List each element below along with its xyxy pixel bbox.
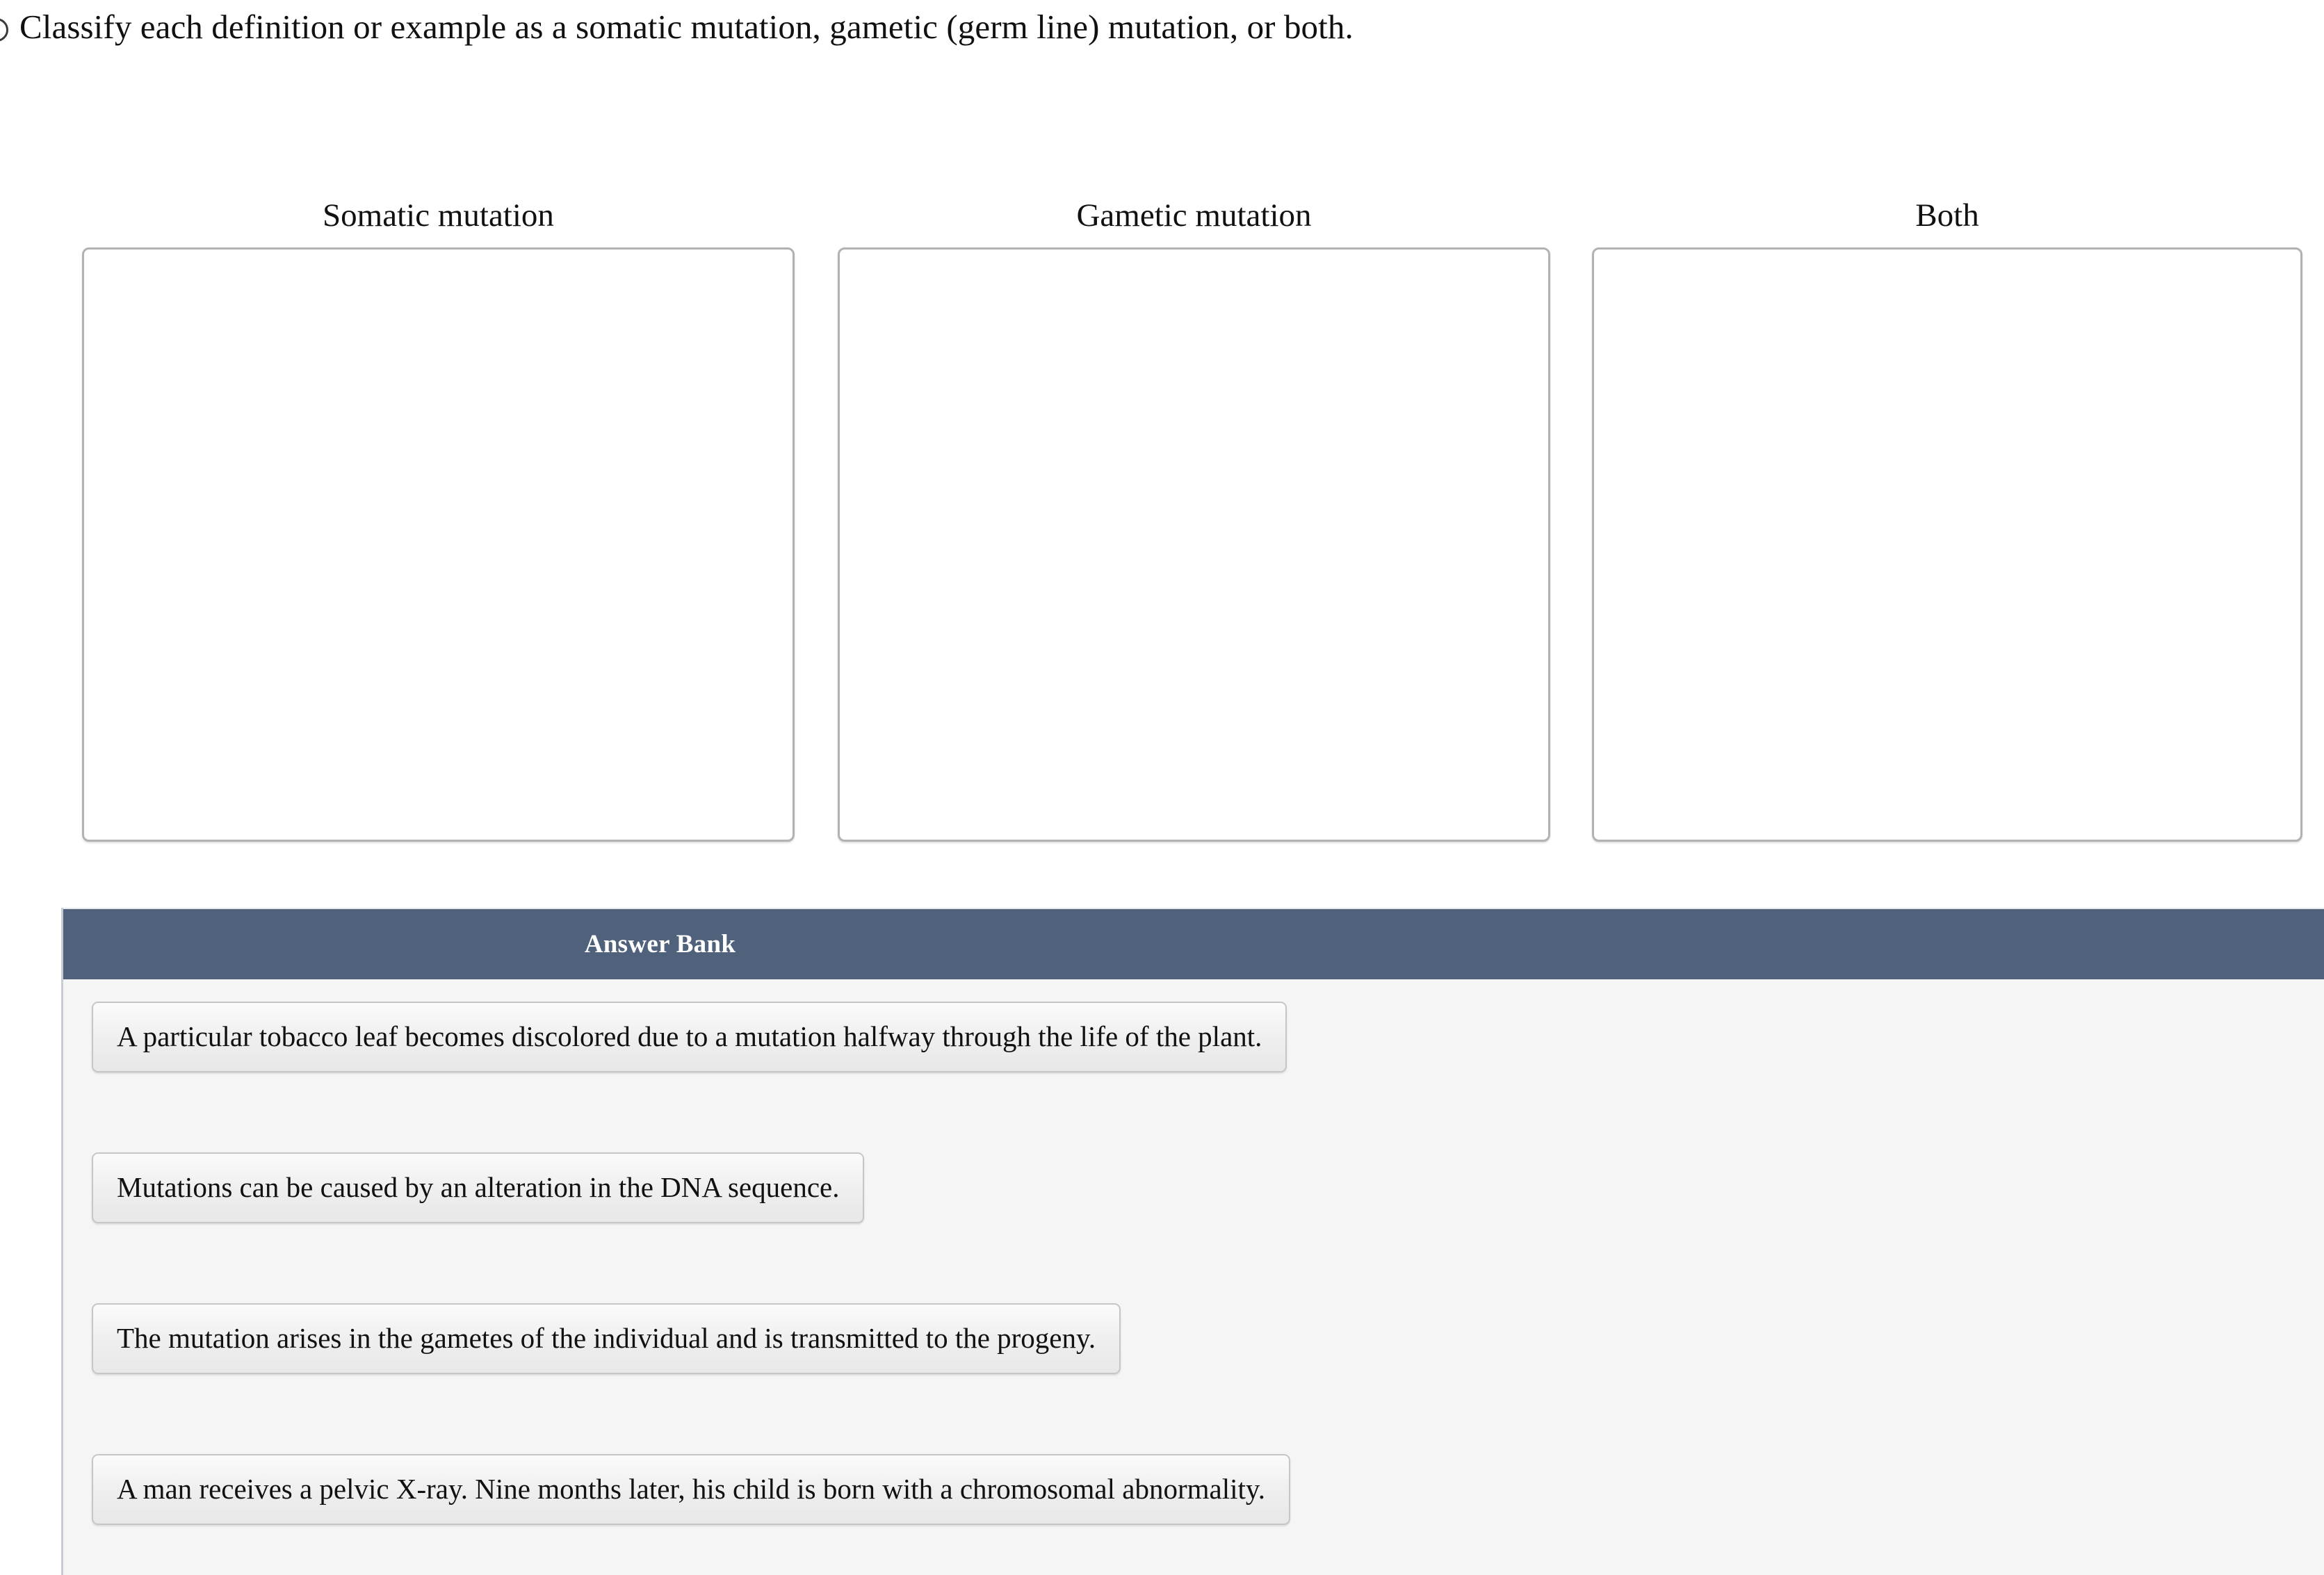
answer-bank-title: Answer Bank (585, 930, 736, 959)
answer-chip-gametes-progeny[interactable]: The mutation arises in the gametes of th… (92, 1303, 1121, 1374)
category-label-both: Both (1592, 195, 2302, 247)
answer-bank-body: A particular tobacco leaf becomes discol… (63, 979, 2324, 1575)
answer-bank-header: Answer Bank (63, 908, 2324, 979)
category-column-both: Both (1592, 195, 2302, 842)
category-column-somatic-mutation: Somatic mutation (82, 195, 795, 842)
page-title: Classify each definition or example as a… (19, 6, 1354, 49)
dropzone-somatic-mutation[interactable] (82, 247, 795, 842)
dropzone-gametic-mutation[interactable] (838, 247, 1550, 842)
list-item: Mutations can be caused by an alteration… (63, 1152, 864, 1223)
category-column-gametic-mutation: Gametic mutation (838, 195, 1550, 842)
answer-chip-dna-sequence-alteration[interactable]: Mutations can be caused by an alteration… (92, 1152, 864, 1223)
category-label-gametic-mutation: Gametic mutation (838, 195, 1550, 247)
category-label-somatic-mutation: Somatic mutation (82, 195, 795, 247)
list-item: The mutation arises in the gametes of th… (63, 1303, 1121, 1374)
answer-chip-pelvic-xray[interactable]: A man receives a pelvic X-ray. Nine mont… (92, 1454, 1290, 1525)
question-prompt-row: Classify each definition or example as a… (0, 0, 2324, 64)
answer-bank-panel: Answer Bank A particular tobacco leaf be… (61, 908, 2324, 1575)
circle-bullet-icon (0, 18, 8, 42)
list-item: A man receives a pelvic X-ray. Nine mont… (63, 1454, 1290, 1525)
list-item: A particular tobacco leaf becomes discol… (63, 1002, 1287, 1072)
dropzone-both[interactable] (1592, 247, 2302, 842)
answer-chip-tobacco-leaf[interactable]: A particular tobacco leaf becomes discol… (92, 1002, 1287, 1072)
